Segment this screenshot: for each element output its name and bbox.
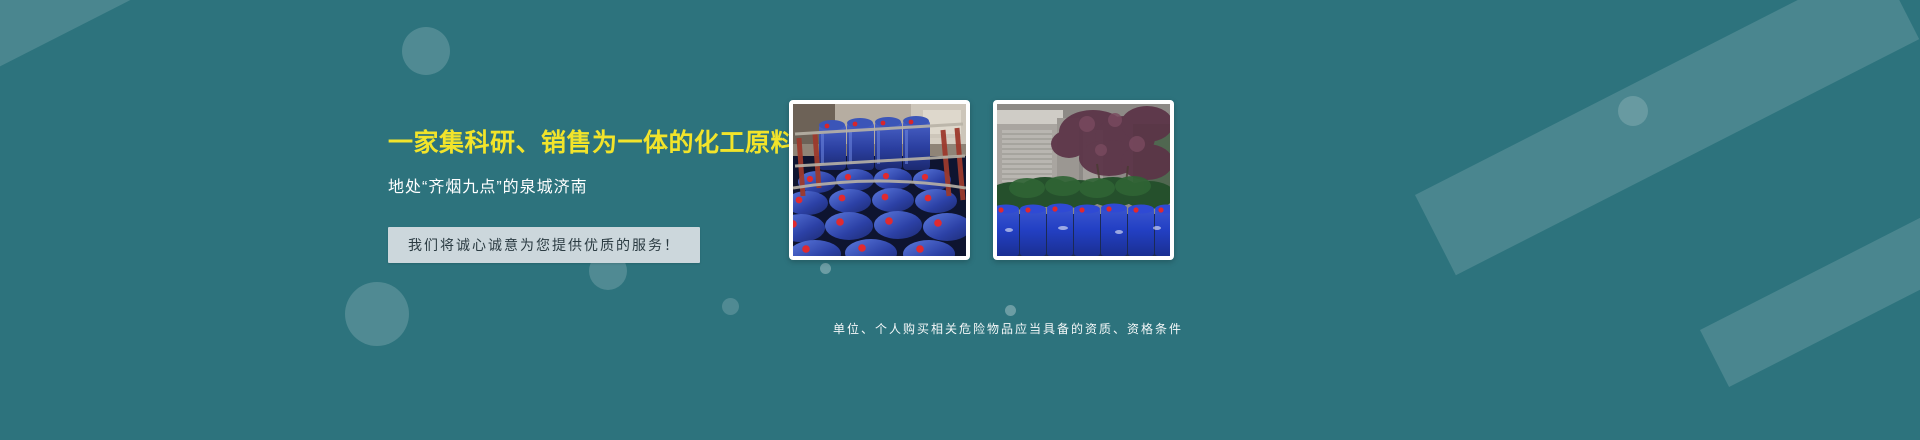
blue-chemical-drums-on-truck-image bbox=[793, 104, 966, 256]
decorative-circle-icon bbox=[1618, 96, 1648, 126]
banner-text-block: 一家集科研、销售为一体的化工原料公司 地处“齐烟九点”的泉城济南 我们将诚心诚意… bbox=[388, 128, 808, 263]
service-promise-button[interactable]: 我们将诚心诚意为您提供优质的服务！ bbox=[388, 227, 700, 263]
decorative-circle-icon bbox=[345, 282, 409, 346]
blue-chemical-drums-in-yard-image bbox=[997, 104, 1170, 256]
decorative-circle-icon bbox=[722, 298, 739, 315]
decorative-circle-icon bbox=[820, 263, 831, 274]
diagonal-stripe-icon bbox=[1700, 194, 1920, 387]
photo-card-drums-truck[interactable] bbox=[789, 100, 970, 260]
decorative-circle-icon bbox=[1005, 305, 1016, 316]
photo-card-drums-yard[interactable] bbox=[993, 100, 1174, 260]
diagonal-stripe-icon bbox=[0, 0, 812, 116]
decorative-circle-icon bbox=[402, 27, 450, 75]
banner-headline: 一家集科研、销售为一体的化工原料公司 bbox=[388, 128, 808, 158]
diagonal-stripe-icon bbox=[1415, 0, 1919, 275]
promo-banner: 一家集科研、销售为一体的化工原料公司 地处“齐烟九点”的泉城济南 我们将诚心诚意… bbox=[0, 0, 1920, 440]
bottom-caption: 单位、个人购买相关危险物品应当具备的资质、资格条件 bbox=[833, 320, 1183, 337]
banner-subtitle: 地处“齐烟九点”的泉城济南 bbox=[388, 178, 808, 197]
